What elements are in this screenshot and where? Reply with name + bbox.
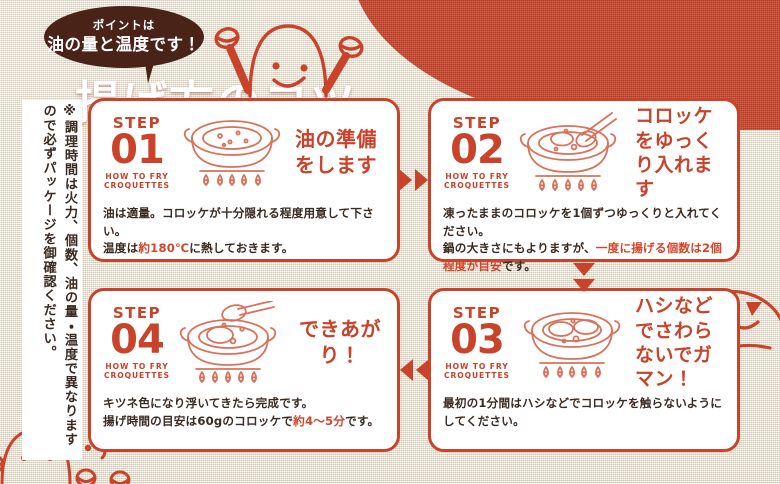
step-number: 03	[441, 322, 513, 359]
chopsticks-lifting-croquette-out-of-pot-icon	[173, 301, 291, 385]
desc-part: 温度は	[103, 241, 138, 255]
step-footer-text: HOW TO FRY CROQUETTES	[101, 172, 173, 191]
step-heading-04: できあがり！	[291, 317, 389, 368]
step-description-03: 最初の1分間はハシなどでコロッケを触らないようにしてください。	[431, 395, 737, 430]
triangle-down-icon	[573, 263, 595, 276]
step-footer-text: HOW TO FRY CROQUETTES	[441, 362, 513, 381]
step-card-02-top: STEP 02 HOW TO FRY CROQUETTES	[431, 101, 737, 205]
desc-part: 揚げ時間の目安は60gのコロッケで	[103, 414, 293, 428]
step-card-03[interactable]: STEP 03 HOW TO FRY CROQUETTES	[428, 288, 740, 452]
step-badge-04: STEP 04 HOW TO FRY CROQUETTES	[101, 306, 173, 380]
step-badge-02: STEP 02 HOW TO FRY CROQUETTES	[441, 116, 513, 190]
step-card-01[interactable]: STEP 01 HOW TO FRY CROQUETTES	[88, 98, 400, 262]
step-card-04[interactable]: STEP 04 HOW TO FRY CROQUETTES	[88, 288, 400, 452]
desc-part: 油は適量。コロッケが十分隠れる程度用意して下さい。	[103, 206, 374, 238]
desc-part: です。	[502, 259, 536, 273]
step-card-02[interactable]: STEP 02 HOW TO FRY CROQUETTES	[428, 98, 740, 262]
step-badge-03: STEP 03 HOW TO FRY CROQUETTES	[441, 306, 513, 380]
triangle-left-icon	[400, 359, 413, 381]
step-heading-02: コロッケをゆっくり入れます	[631, 104, 729, 201]
step-footer-text: HOW TO FRY CROQUETTES	[101, 362, 173, 381]
side-note: ※調理時間は火力、個数、油の量・温度で異なりますので必ずパッケージを御確認くださ…	[22, 100, 82, 460]
step-description-01: 油は適量。コロッケが十分隠れる程度用意して下さい。 温度は約180℃に熱しておき…	[91, 205, 397, 258]
arrow-step2-to-step3	[573, 263, 595, 292]
step-badge-01: STEP 01 HOW TO FRY CROQUETTES	[101, 116, 173, 190]
step-heading-01: 油の準備をします	[291, 127, 389, 178]
desc-part: 鍋の大きさにもよりますが、	[443, 241, 596, 255]
pot-with-oil-on-stove-icon	[173, 111, 291, 195]
triangle-left-icon	[416, 359, 429, 381]
step-description-04: キツネ色になり浮いてきたら完成です。 揚げ時間の目安は60gのコロッケで約4〜5…	[91, 395, 397, 430]
desc-part: 凍ったままのコロッケを1個ずつゆっくりと入れてください。	[443, 206, 721, 238]
desc-highlight: 約4〜5分	[293, 414, 345, 428]
step-number: 02	[441, 132, 513, 169]
triangle-right-icon	[399, 169, 412, 191]
desc-part: に熱しておきます。	[189, 241, 293, 255]
pot-with-chopsticks-dropping-croquette-icon	[513, 111, 631, 195]
desc-part: 最初の1分間はハシなどでコロッケを触らないようにしてください。	[443, 396, 722, 428]
pot-with-two-croquettes-frying-icon	[513, 301, 631, 385]
croquette-mascot-cheering-icon	[208, 0, 368, 102]
step-card-03-top: STEP 03 HOW TO FRY CROQUETTES	[431, 291, 737, 395]
step-heading-03: ハシなどでさわらないでガマン！	[631, 294, 729, 391]
step-card-01-top: STEP 01 HOW TO FRY CROQUETTES	[91, 101, 397, 205]
speech-bubble-line2: 油の量と温度です！	[44, 31, 204, 55]
step-number: 04	[101, 322, 173, 359]
arrow-step1-to-step2	[399, 169, 428, 191]
step-card-04-top: STEP 04 HOW TO FRY CROQUETTES	[91, 291, 397, 395]
step-footer-text: HOW TO FRY CROQUETTES	[441, 172, 513, 191]
step-number: 01	[101, 132, 173, 169]
desc-part: キツネ色になり浮いてきたら完成です。	[103, 396, 313, 410]
infographic-root: 揚げ方のコツ HOW TO FRY CROQUETTES ポイントは 油の量と温…	[0, 0, 780, 484]
desc-part: です。	[345, 414, 379, 428]
arrow-step3-to-step4	[400, 359, 429, 381]
triangle-right-icon	[415, 169, 428, 191]
desc-highlight: 約180℃	[138, 241, 189, 255]
triangle-down-icon	[573, 279, 595, 292]
